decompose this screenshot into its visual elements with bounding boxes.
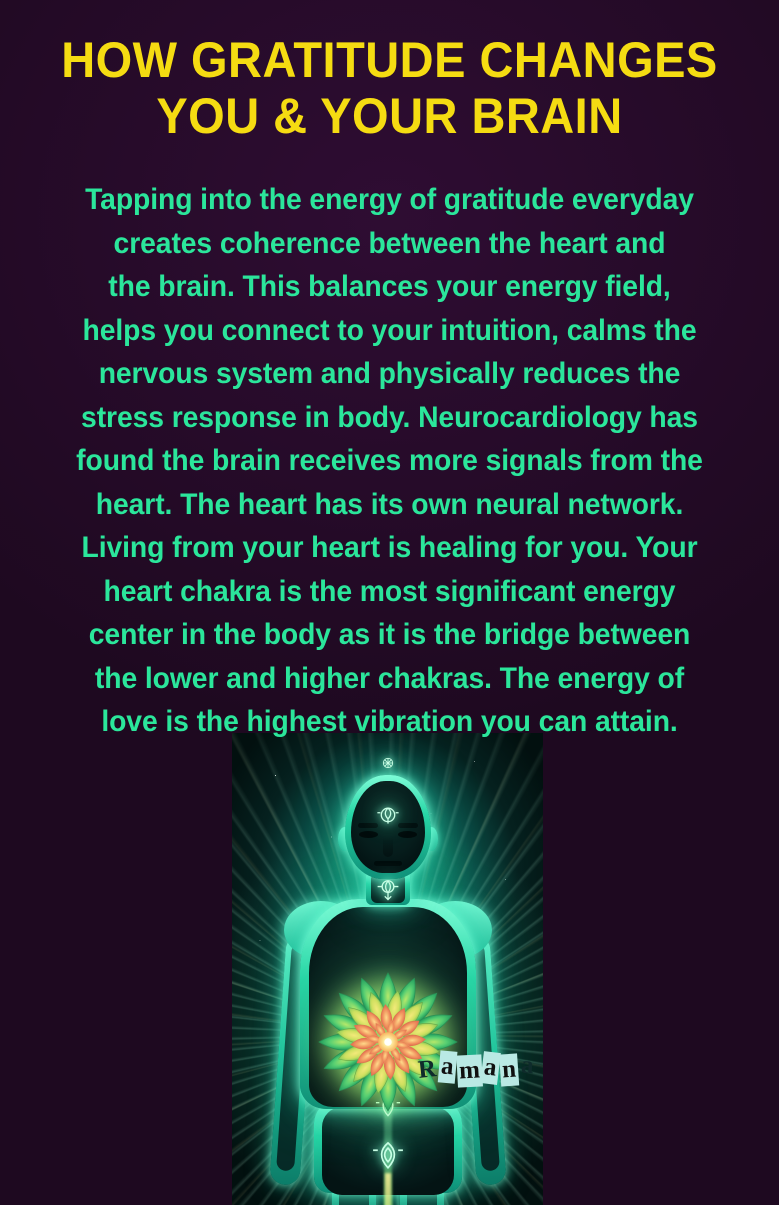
body-line: center in the body as it is the bridge b… [23,613,755,657]
human-silhouette [263,775,513,1205]
watermark-letter: a [481,1051,501,1085]
watermark-letter: a [438,1050,457,1083]
heart-chakra-lotus-icon [313,967,463,1117]
watermark-letter: a [518,1050,536,1083]
body-line: Living from your heart is healing for yo… [23,526,755,570]
watermark-letter: n [499,1053,519,1086]
body-line: heart. The heart has its own neural netw… [23,483,755,527]
eye-right [398,831,417,838]
body-line: nervous system and physically reduces th… [23,352,755,396]
root-chakra-icon [372,1139,404,1173]
energy-column-root [385,1173,391,1205]
brow-right [398,823,418,828]
watermark-letter: m [456,1054,482,1087]
body-line: helps you connect to your intuition, cal… [23,309,755,353]
body-line: stress response in body. Neurocardiology… [23,396,755,440]
body-line: the lower and higher chakras. The energy… [23,657,755,701]
nose [383,837,393,857]
title-line-2: YOU & YOUR BRAIN [23,88,755,144]
body-line: the brain. This balances your energy fie… [23,265,755,309]
title-line-1: HOW GRATITUDE CHANGES [23,32,755,88]
crown-chakra-icon [380,755,396,771]
page-title: HOW GRATITUDE CHANGES YOU & YOUR BRAIN [0,32,779,144]
watermark: R a m a n a [416,1052,536,1084]
poster-canvas: HOW GRATITUDE CHANGES YOU & YOUR BRAIN T… [0,0,779,1205]
body-paragraph: Tapping into the energy of gratitude eve… [8,178,771,744]
chakra-body-illustration [232,733,543,1205]
body-line: Tapping into the energy of gratitude eve… [23,178,755,222]
watermark-letter: R [415,1053,440,1087]
body-line: love is the highest vibration you can at… [23,700,755,744]
throat-chakra-icon [375,877,401,907]
eye-left [359,831,378,838]
third-eye-chakra-icon [375,803,401,829]
body-line: creates coherence between the heart and [23,222,755,266]
body-line: found the brain receives more signals fr… [23,439,755,483]
body-line: heart chakra is the most significant ene… [23,570,755,614]
mouth [374,861,402,866]
